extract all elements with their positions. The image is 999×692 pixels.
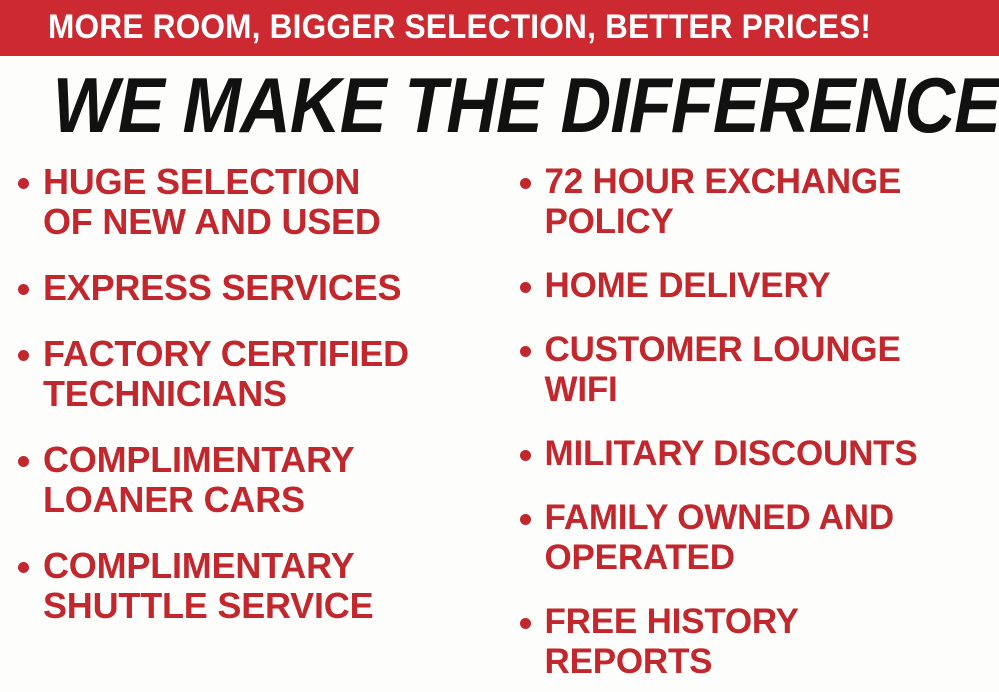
list-item-label: HUGE SELECTION OF NEW AND USED xyxy=(43,162,381,242)
list-item: HOME DELIVERY xyxy=(520,266,999,306)
bullet-dot-icon xyxy=(18,562,29,573)
list-item-label: 72 HOUR EXCHANGE POLICY xyxy=(545,162,902,242)
list-item: FREE HISTORY REPORTS xyxy=(520,602,999,682)
list-item: FACTORY CERTIFIED TECHNICIANS xyxy=(18,334,496,414)
list-item: FAMILY OWNED AND OPERATED xyxy=(520,498,999,578)
bullet-dot-icon xyxy=(520,282,531,293)
promo-banner: MORE ROOM, BIGGER SELECTION, BETTER PRIC… xyxy=(0,0,999,56)
list-item: COMPLIMENTARY LOANER CARS xyxy=(18,440,496,520)
bullet-dot-icon xyxy=(18,456,29,467)
bullet-dot-icon xyxy=(520,346,531,357)
list-item-label: HOME DELIVERY xyxy=(545,266,831,306)
headline: WE MAKE THE DIFFERENCE xyxy=(0,66,999,144)
list-item: HUGE SELECTION OF NEW AND USED xyxy=(18,162,496,242)
list-item-label: FREE HISTORY REPORTS xyxy=(545,602,799,682)
headline-text: WE MAKE THE DIFFERENCE xyxy=(53,66,999,144)
benefits-column-left: HUGE SELECTION OF NEW AND USED EXPRESS S… xyxy=(0,162,500,652)
promo-banner-text: MORE ROOM, BIGGER SELECTION, BETTER PRIC… xyxy=(48,10,871,46)
bullet-dot-icon xyxy=(18,178,29,189)
list-item: CUSTOMER LOUNGE WIFI xyxy=(520,330,999,410)
list-item-label: MILITARY DISCOUNTS xyxy=(545,434,918,474)
bullet-dot-icon xyxy=(520,618,531,629)
list-item-label: COMPLIMENTARY SHUTTLE SERVICE xyxy=(43,546,373,626)
list-item: 72 HOUR EXCHANGE POLICY xyxy=(520,162,999,242)
list-item: MILITARY DISCOUNTS xyxy=(520,434,999,474)
bullet-dot-icon xyxy=(18,350,29,361)
bullet-dot-icon xyxy=(18,284,29,295)
bullet-dot-icon xyxy=(520,178,531,189)
benefits-column-right: 72 HOUR EXCHANGE POLICY HOME DELIVERY CU… xyxy=(500,162,999,692)
list-item: EXPRESS SERVICES xyxy=(18,268,496,308)
list-item-label: COMPLIMENTARY LOANER CARS xyxy=(43,440,354,520)
bullet-dot-icon xyxy=(520,514,531,525)
list-item-label: FACTORY CERTIFIED TECHNICIANS xyxy=(43,334,409,414)
list-item-label: EXPRESS SERVICES xyxy=(43,268,401,308)
list-item-label: FAMILY OWNED AND OPERATED xyxy=(545,498,894,578)
list-item-label: CUSTOMER LOUNGE WIFI xyxy=(545,330,901,410)
bullet-dot-icon xyxy=(520,450,531,461)
benefits-columns: HUGE SELECTION OF NEW AND USED EXPRESS S… xyxy=(0,162,999,692)
list-item: COMPLIMENTARY SHUTTLE SERVICE xyxy=(18,546,496,626)
